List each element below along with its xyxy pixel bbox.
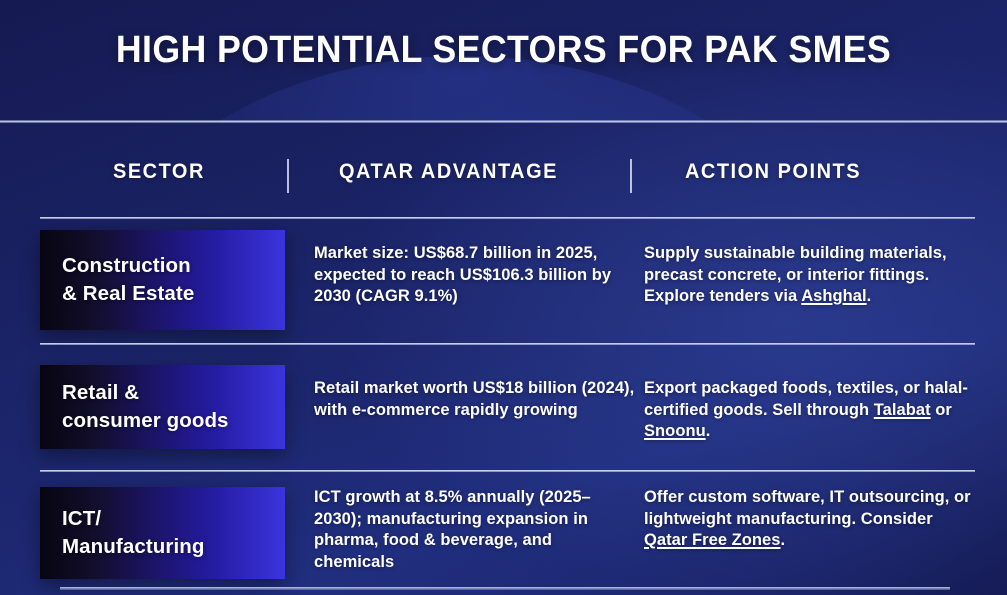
title-band: HIGH POTENTIAL SECTORS FOR PAK SMES — [0, 0, 1007, 122]
action-points-cell: Supply sustainable building materials, p… — [644, 243, 972, 308]
sector-label: ICT/ Manufacturing — [62, 505, 205, 561]
column-header-qatar-advantage: QATAR ADVANTAGE — [339, 152, 558, 192]
header-divider-2 — [630, 159, 632, 193]
row-separator-1 — [40, 343, 975, 345]
action-text-tail: . — [867, 287, 872, 305]
header-separator — [40, 217, 975, 219]
link-qatar-free-zones[interactable]: Qatar Free Zones — [644, 531, 781, 549]
action-points-cell: Offer custom software, IT outsourcing, o… — [644, 487, 972, 552]
action-text-tail: . — [706, 422, 711, 440]
link-snoonu[interactable]: Snoonu — [644, 422, 706, 440]
action-text-lead: Supply sustainable building materials, p… — [644, 244, 947, 305]
column-header-action-points: ACTION POINTS — [685, 152, 861, 192]
sector-label: Construction & Real Estate — [62, 252, 194, 308]
table-header-row: SECTOR QATAR ADVANTAGE ACTION POINTS — [0, 152, 1007, 210]
title-underline-rule — [0, 120, 1007, 123]
action-points-cell: Export packaged foods, textiles, or hala… — [644, 378, 972, 443]
qatar-advantage-cell: Market size: US$68.7 billion in 2025, ex… — [314, 243, 636, 308]
sector-card: Retail & consumer goods — [40, 365, 285, 449]
qatar-advantage-cell: ICT growth at 8.5% annually (2025–2030);… — [314, 487, 636, 573]
action-text-lead: Offer custom software, IT outsourcing, o… — [644, 488, 971, 528]
sector-label: Retail & consumer goods — [62, 379, 229, 435]
bottom-rule — [60, 587, 950, 590]
action-text-tail: . — [781, 531, 786, 549]
column-header-sector: SECTOR — [113, 152, 205, 192]
page-title: HIGH POTENTIAL SECTORS FOR PAK SMES — [30, 27, 977, 73]
infographic-canvas: HIGH POTENTIAL SECTORS FOR PAK SMES SECT… — [0, 0, 1007, 595]
action-text-mid: or — [931, 401, 952, 419]
row-separator-2 — [40, 470, 975, 472]
link-talabat[interactable]: Talabat — [874, 401, 931, 419]
header-divider-1 — [287, 159, 289, 193]
qatar-advantage-cell: Retail market worth US$18 billion (2024)… — [314, 378, 636, 421]
sector-card: ICT/ Manufacturing — [40, 487, 285, 579]
link-ashghal[interactable]: Ashghal — [801, 287, 866, 305]
sector-card: Construction & Real Estate — [40, 230, 285, 330]
